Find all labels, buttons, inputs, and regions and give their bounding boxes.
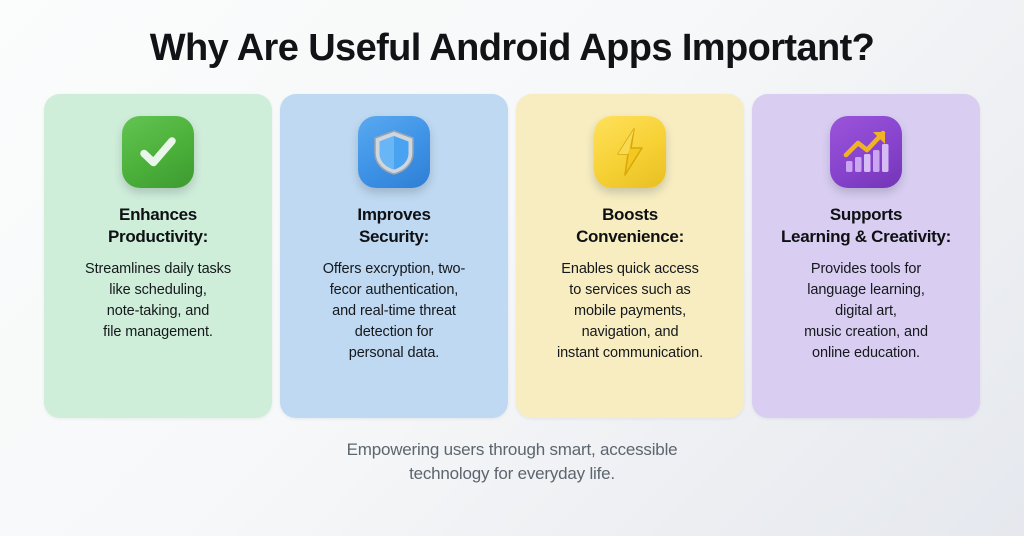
infographic-poster: Why Are Useful Android Apps Important? E… <box>0 0 1024 536</box>
card-body-line: Provides tools for <box>804 259 928 280</box>
card-body-line: personal data. <box>323 343 465 364</box>
card-heading: Supports Learning & Creativity: <box>781 204 951 248</box>
card-body: Offers excryption, two- fecor authentica… <box>323 259 465 364</box>
card-body: Provides tools for language learning, di… <box>804 259 928 364</box>
card-heading-line1: Supports <box>830 205 902 224</box>
card-enhances-productivity: Enhances Productivity: Streamlines daily… <box>44 94 272 418</box>
card-body: Enables quick access to services such as… <box>557 259 703 364</box>
card-body-line: Offers excryption, two- <box>323 259 465 280</box>
card-heading-line2: Productivity: <box>108 227 208 246</box>
card-body-line: detection for <box>323 322 465 343</box>
footer-line2: technology for everyday life. <box>347 462 678 487</box>
card-body-line: file management. <box>85 322 231 343</box>
card-heading-line1: Enhances <box>119 205 197 224</box>
check-mark-icon <box>122 116 194 188</box>
card-body-line: like scheduling, <box>85 280 231 301</box>
card-body-line: to services such as <box>557 280 703 301</box>
card-improves-security: Improves Security: Offers excryption, tw… <box>280 94 508 418</box>
card-heading: Boosts Convenience: <box>576 204 684 248</box>
card-body-line: fecor authentication, <box>323 280 465 301</box>
card-heading-line1: Improves <box>357 205 430 224</box>
card-body-line: mobile payments, <box>557 301 703 322</box>
card-body-line: instant communication. <box>557 343 703 364</box>
card-heading-line2: Convenience: <box>576 227 684 246</box>
card-heading-line2: Learning & Creativity: <box>781 227 951 246</box>
card-boosts-convenience: Boosts Convenience: Enables quick access… <box>516 94 744 418</box>
page-title: Why Are Useful Android Apps Important? <box>150 28 875 70</box>
card-body-line: music creation, and <box>804 322 928 343</box>
card-heading: Enhances Productivity: <box>108 204 208 248</box>
card-body-line: digital art, <box>804 301 928 322</box>
card-heading-line1: Boosts <box>602 205 658 224</box>
footer-line1: Empowering users through smart, accessib… <box>347 438 678 463</box>
card-body-line: note-taking, and <box>85 301 231 322</box>
benefit-cards-row: Enhances Productivity: Streamlines daily… <box>44 94 980 418</box>
card-body-line: online education. <box>804 343 928 364</box>
card-body-line: Streamlines daily tasks <box>85 259 231 280</box>
card-heading: Improves Security: <box>357 204 430 248</box>
card-heading-line2: Security: <box>359 227 429 246</box>
card-body-line: and real-time threat <box>323 301 465 322</box>
card-body-line: language learning, <box>804 280 928 301</box>
card-supports-learning-creativity: Supports Learning & Creativity: Provides… <box>752 94 980 418</box>
card-body: Streamlines daily tasks like scheduling,… <box>85 259 231 343</box>
card-body-line: navigation, and <box>557 322 703 343</box>
shield-icon <box>358 116 430 188</box>
footer-caption: Empowering users through smart, accessib… <box>347 438 678 487</box>
card-body-line: Enables quick access <box>557 259 703 280</box>
growth-chart-icon <box>830 116 902 188</box>
lightning-bolt-icon <box>594 116 666 188</box>
